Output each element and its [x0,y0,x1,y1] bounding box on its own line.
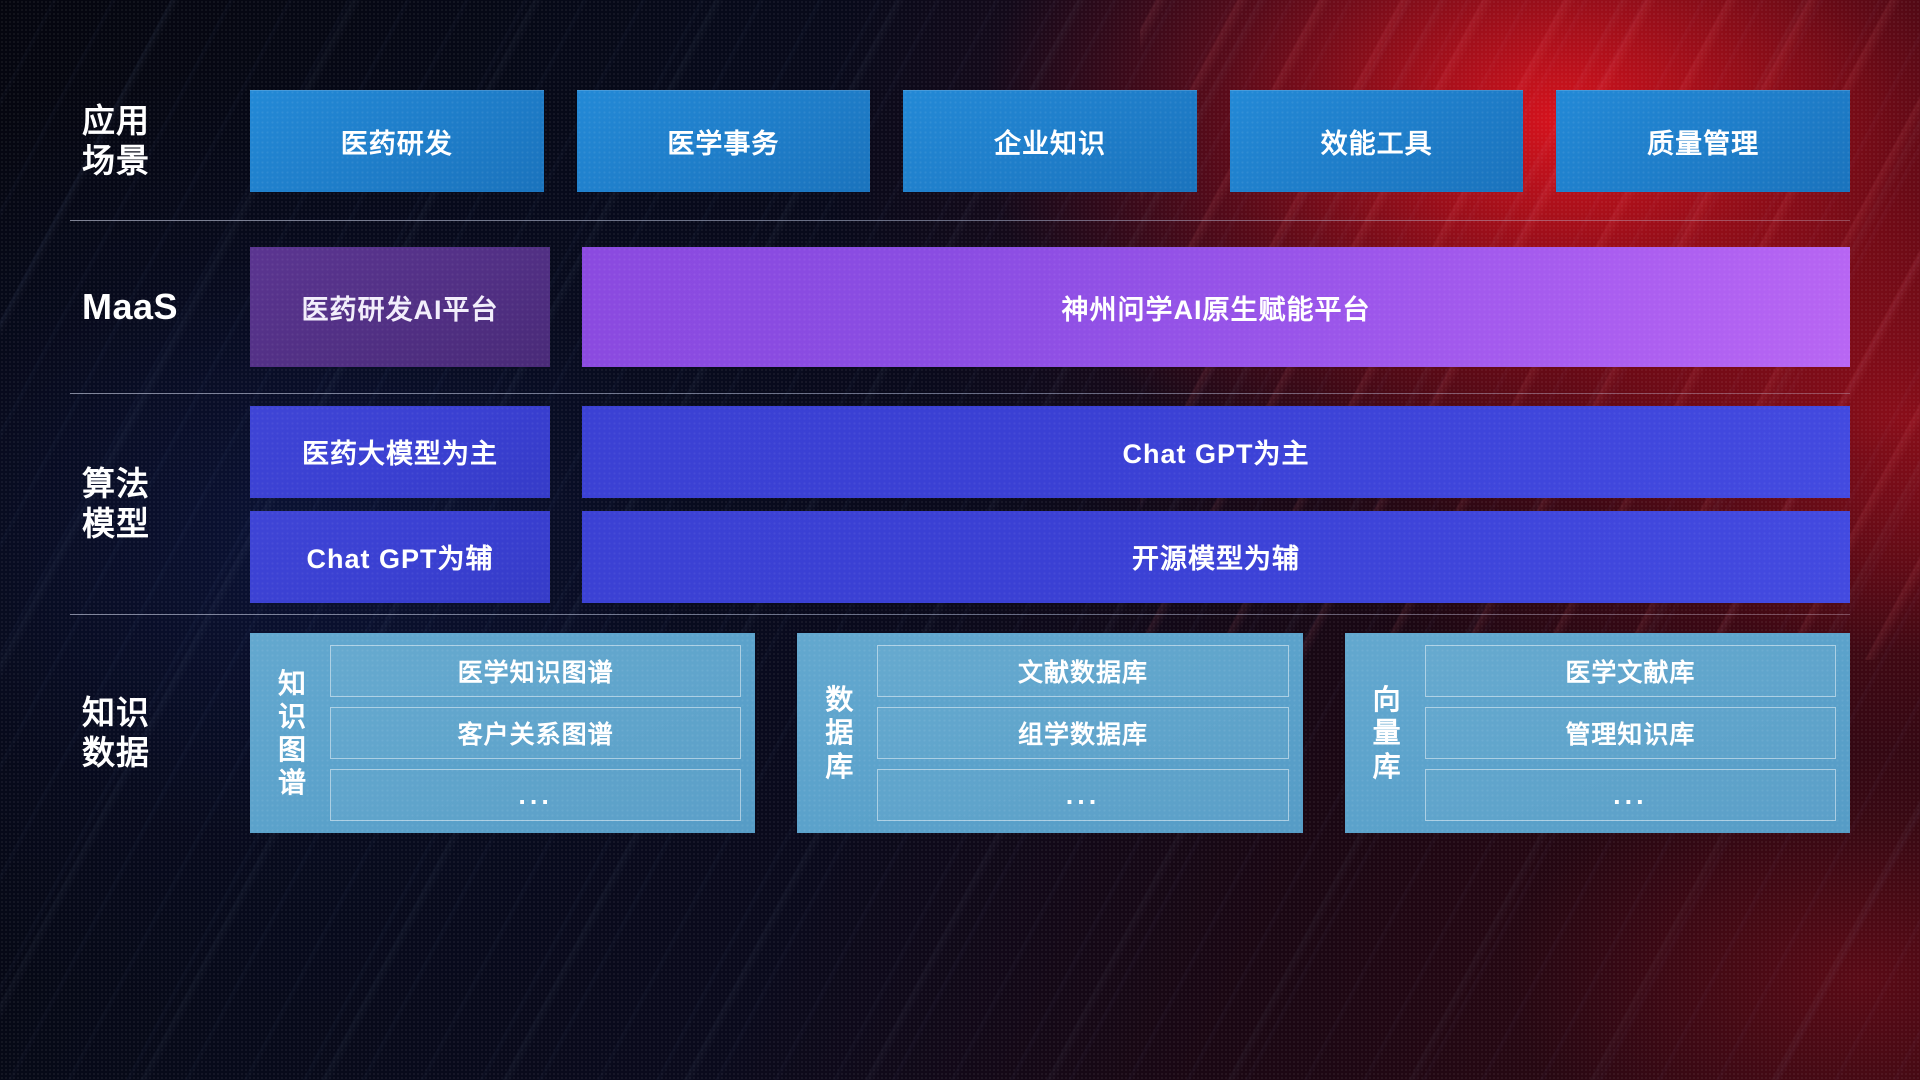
algorithm-card-group: 医药大模型为主 Chat GPT为主 Chat GPT为辅 开源模型为辅 [250,406,1850,603]
row-maas: MaaS 医药研发AI平台 神州问学AI原生赋能平台 [70,221,1850,393]
scenario-card-group: 医药研发 医学事务 企业知识 效能工具 质量管理 [250,90,1850,192]
knowledge-item[interactable]: 医学文献库 [1425,645,1836,697]
knowledge-item-more[interactable]: ... [877,769,1288,821]
row-algorithm-models: 算法 模型 医药大模型为主 Chat GPT为主 Chat GPT为辅 开源模型… [70,394,1850,614]
knowledge-item[interactable]: 医学知识图谱 [330,645,741,697]
scenario-label: 效能工具 [1321,122,1433,161]
algorithm-card-opensource-secondary[interactable]: 开源模型为辅 [582,511,1850,603]
maas-card-pharma-ai-platform[interactable]: 医药研发AI平台 [250,247,550,367]
knowledge-item[interactable]: 文献数据库 [877,645,1288,697]
algorithm-card-chatgpt-secondary[interactable]: Chat GPT为辅 [250,511,550,603]
scenario-label: 医学事务 [667,122,779,161]
row-label-line-1: 应用 [82,101,250,141]
algorithm-row-secondary: Chat GPT为辅 开源模型为辅 [250,511,1850,603]
row-label-algorithm-models: 算法 模型 [70,464,250,545]
algorithm-label: Chat GPT为主 [1122,432,1309,471]
layer-stack: 应用 场景 医药研发 医学事务 企业知识 效能工具 质量管理 MaaS 医药研发… [70,62,1850,851]
row-label-line-2: 模型 [82,504,250,544]
algorithm-row-primary: 医药大模型为主 Chat GPT为主 [250,406,1850,498]
scenario-card-medicine-rnd[interactable]: 医药研发 [250,90,544,192]
row-label-line-2: 数据 [82,733,250,773]
algorithm-card-pharma-llm-primary[interactable]: 医药大模型为主 [250,406,550,498]
row-label-application-scenarios: 应用 场景 [70,101,250,182]
maas-card-shenzhou-wenxue-platform[interactable]: 神州问学AI原生赋能平台 [582,247,1850,367]
maas-right-label: 神州问学AI原生赋能平台 [1062,288,1371,327]
scenario-card-medical-affairs[interactable]: 医学事务 [577,90,871,192]
knowledge-item[interactable]: 客户关系图谱 [330,707,741,759]
knowledge-group-container: 知识图谱 医学知识图谱 客户关系图谱 ... 数据库 文献数据库 组学数据库 .… [250,633,1850,833]
row-label-line-1: 算法 [82,464,250,504]
knowledge-group-title: 数据库 [807,645,871,821]
row-label-line-2: 场景 [82,141,250,181]
row-label-maas: MaaS [70,285,250,329]
knowledge-group-vector-store[interactable]: 向量库 医学文献库 管理知识库 ... [1345,633,1850,833]
row-label-line-1: 知识 [82,693,250,733]
scenario-label: 企业知识 [994,122,1106,161]
algorithm-label: 医药大模型为主 [302,432,498,471]
scenario-label: 质量管理 [1647,122,1759,161]
scenario-card-quality-management[interactable]: 质量管理 [1556,90,1850,192]
knowledge-group-knowledge-graph[interactable]: 知识图谱 医学知识图谱 客户关系图谱 ... [250,633,755,833]
knowledge-item-more[interactable]: ... [1425,769,1836,821]
row-knowledge-data: 知识 数据 知识图谱 医学知识图谱 客户关系图谱 ... 数据库 文献数据库 [70,615,1850,851]
knowledge-group-title: 知识图谱 [260,645,324,821]
scenario-card-efficiency-tools[interactable]: 效能工具 [1230,90,1524,192]
knowledge-item-list: 医学文献库 管理知识库 ... [1419,645,1836,821]
knowledge-item-list: 文献数据库 组学数据库 ... [871,645,1288,821]
algorithm-label: 开源模型为辅 [1132,537,1300,576]
knowledge-item[interactable]: 管理知识库 [1425,707,1836,759]
knowledge-item-list: 医学知识图谱 客户关系图谱 ... [324,645,741,821]
knowledge-group-database[interactable]: 数据库 文献数据库 组学数据库 ... [797,633,1302,833]
maas-left-label: 医药研发AI平台 [302,288,499,327]
algorithm-card-chatgpt-primary[interactable]: Chat GPT为主 [582,406,1850,498]
row-label-knowledge-data: 知识 数据 [70,693,250,774]
scenario-label: 医药研发 [341,122,453,161]
knowledge-item-more[interactable]: ... [330,769,741,821]
row-application-scenarios: 应用 场景 医药研发 医学事务 企业知识 效能工具 质量管理 [70,62,1850,220]
algorithm-label: Chat GPT为辅 [306,537,493,576]
knowledge-group-title: 向量库 [1355,645,1419,821]
maas-card-group: 医药研发AI平台 神州问学AI原生赋能平台 [250,247,1850,367]
architecture-diagram-canvas: 应用 场景 医药研发 医学事务 企业知识 效能工具 质量管理 MaaS 医药研发… [0,0,1920,1080]
knowledge-item[interactable]: 组学数据库 [877,707,1288,759]
scenario-card-enterprise-knowledge[interactable]: 企业知识 [903,90,1197,192]
